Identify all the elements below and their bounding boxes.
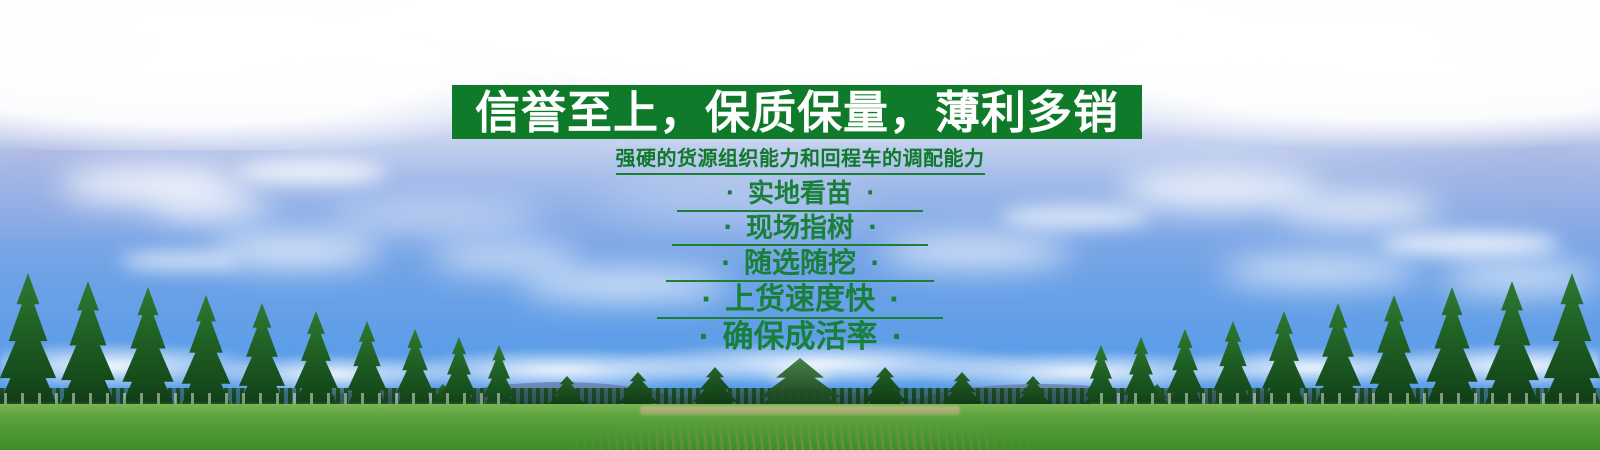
green-crop-field <box>0 404 1600 450</box>
bullet-dot-icon: · <box>866 183 874 205</box>
bullet-dot-icon: · <box>721 251 730 275</box>
feature-item: · 实地看苗 · <box>677 178 923 212</box>
headline-banner: 信誉至上，保质保量，薄利多销 <box>452 85 1142 139</box>
bullet-dot-icon: · <box>698 324 708 352</box>
feature-item: · 上货速度快 · <box>657 282 943 320</box>
feature-item: · 随选随挖 · <box>666 246 934 282</box>
feature-item: · 现场指树 · <box>672 212 928 247</box>
feature-list: · 实地看苗 · · 现场指树 · · 随选随挖 · · 上货速度快 · · 确… <box>0 178 1600 356</box>
feature-label: 随选随挖 <box>730 249 870 278</box>
subtitle: 强硬的货源组织能力和回程车的调配能力 <box>0 146 1600 175</box>
promo-banner: 信誉至上，保质保量，薄利多销 强硬的货源组织能力和回程车的调配能力 · 实地看苗… <box>0 0 1600 450</box>
bullet-dot-icon: · <box>889 287 899 314</box>
bullet-dot-icon: · <box>723 217 732 240</box>
feature-label: 实地看苗 <box>734 181 866 208</box>
bullet-dot-icon: · <box>870 251 879 275</box>
headline-text: 信誉至上，保质保量，薄利多销 <box>475 90 1119 135</box>
bullet-dot-icon: · <box>892 324 902 352</box>
feature-item: · 确保成活率 · <box>651 319 949 356</box>
bullet-dot-icon: · <box>726 183 734 205</box>
bullet-dot-icon: · <box>701 287 711 314</box>
feature-label: 确保成活率 <box>709 322 892 354</box>
subtitle-text: 强硬的货源组织能力和回程车的调配能力 <box>616 146 985 175</box>
bullet-dot-icon: · <box>868 217 877 240</box>
feature-label: 现场指树 <box>732 215 868 243</box>
crop-furrows <box>0 404 1600 450</box>
feature-label: 上货速度快 <box>711 285 889 316</box>
